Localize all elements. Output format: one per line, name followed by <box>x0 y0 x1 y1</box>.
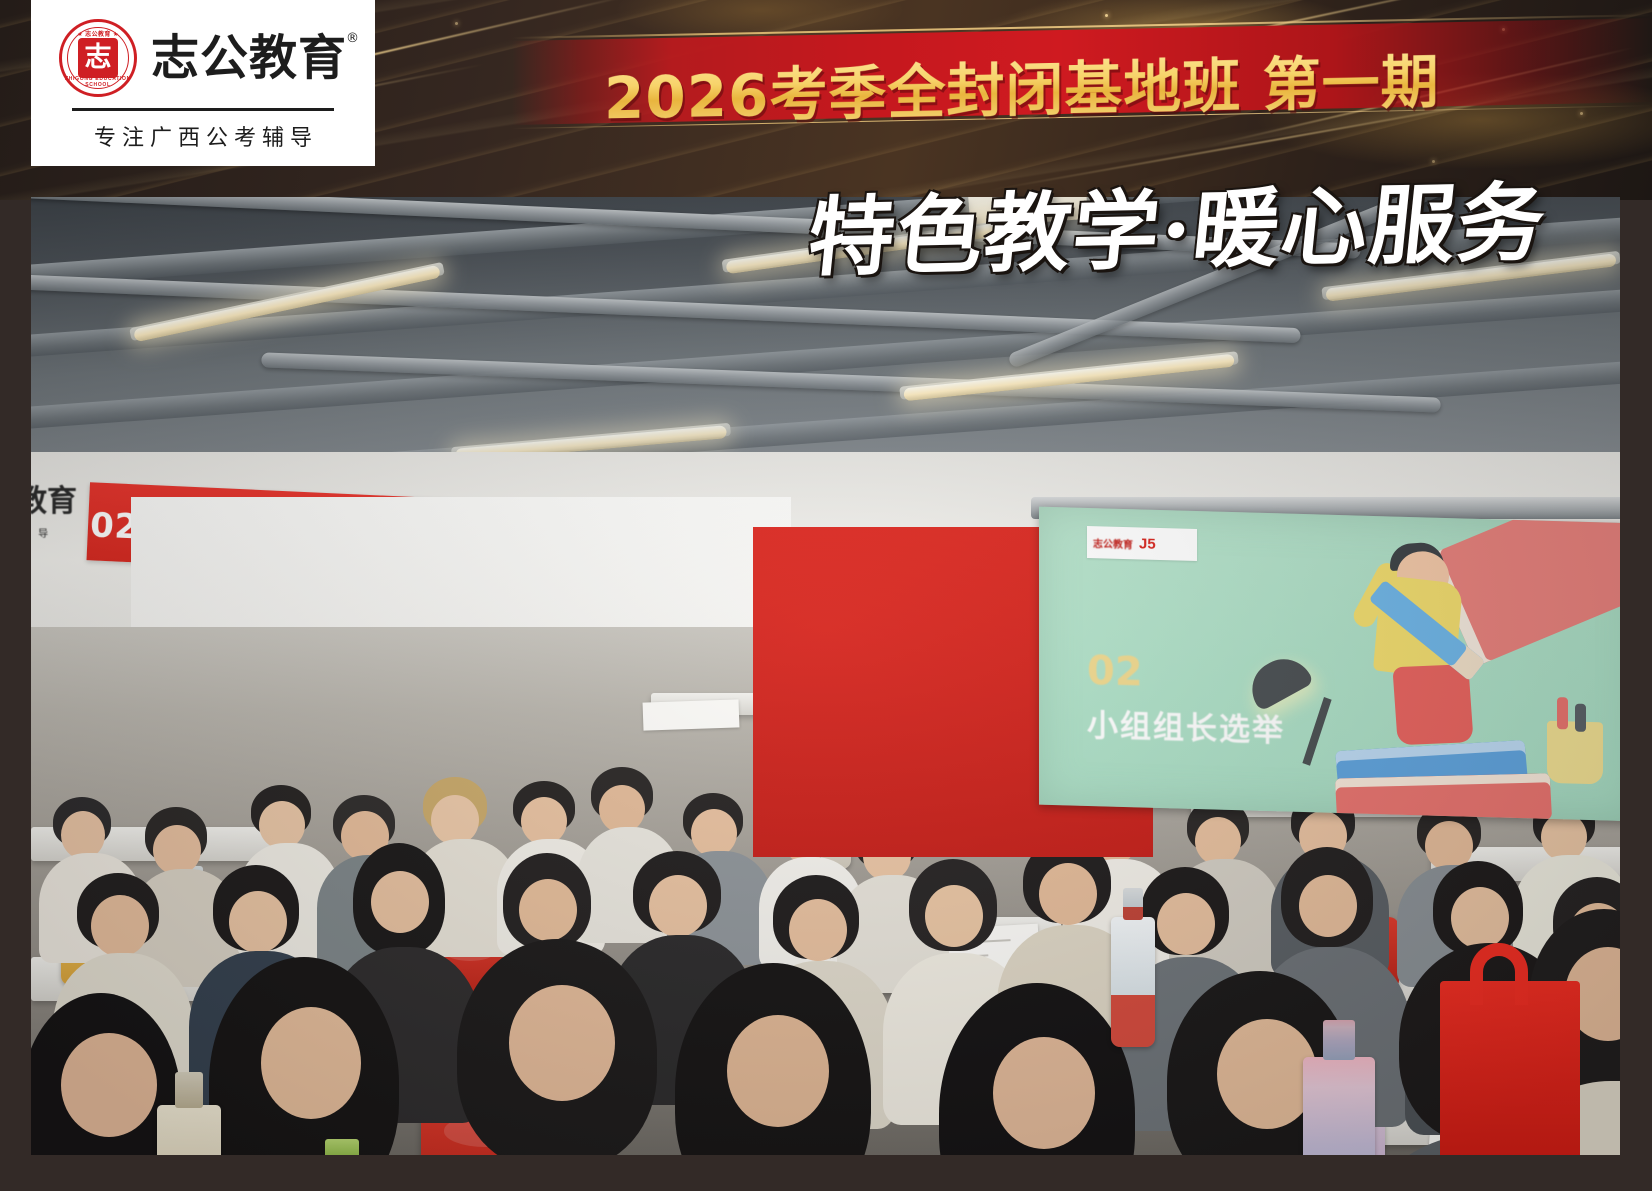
classroom-photo: 教育 辅 导 2026考季国-区-事全封闭基地班1期 拼 搏 志公教育 专注广西… <box>31 197 1620 1155</box>
brand-logo-plate: ★ 志公教育 ★ 志 ZHIGONG EDUCATION SCHOOL 志公教育… <box>31 0 375 166</box>
slide-number: 02 <box>1087 648 1143 696</box>
projector-screen: 志公教育 J5 02 小组组长选举 <box>1039 507 1620 822</box>
brand-tagline: 专注广西公考辅导 <box>88 120 318 152</box>
seal-arc-top-label: ★ 志公教育 ★ <box>62 29 134 38</box>
slide-title: 小组组长选举 <box>1087 700 1285 751</box>
tumbler <box>157 1105 221 1155</box>
seal-core-char: 志 <box>78 38 118 78</box>
slide-brand-badge: 志公教育 J5 <box>1087 526 1197 561</box>
brand-divider <box>72 108 334 111</box>
slide-badge-brand: 志公教育 <box>1093 535 1133 551</box>
wall-edge-logo: 教育 辅 导 <box>31 476 77 540</box>
brand-seal-icon: ★ 志公教育 ★ 志 ZHIGONG EDUCATION SCHOOL <box>59 19 137 97</box>
slide-pencil-cup-icon <box>1547 721 1603 785</box>
poster-root: ★ 志公教育 ★ 志 ZHIGONG EDUCATION SCHOOL 志公教育… <box>0 0 1652 1191</box>
tote-bag <box>1440 981 1580 1155</box>
brand-wordmark: 志公教育 ® <box>151 34 347 82</box>
slide-figure-legs <box>1392 664 1473 745</box>
brand-wordmark-text: 志公教育 <box>151 30 347 86</box>
brush-subtitle: 特色教学·暖心服务 <box>803 152 1553 292</box>
water-bottle <box>1111 917 1155 1047</box>
slide-lamp-icon <box>1242 649 1315 712</box>
registered-mark-icon: ® <box>346 32 360 45</box>
thermos-bottle <box>1303 1057 1375 1155</box>
wall-edge-logo-sub: 辅 导 <box>31 525 77 540</box>
slide-badge-mark: J5 <box>1139 535 1156 552</box>
slide-lamp-arm-icon <box>1302 697 1331 766</box>
wall-edge-logo-text: 教育 <box>31 484 77 519</box>
tote-bag-handle-icon <box>1470 943 1528 1005</box>
seal-arc-bottom-label: ZHIGONG EDUCATION SCHOOL <box>62 76 134 88</box>
